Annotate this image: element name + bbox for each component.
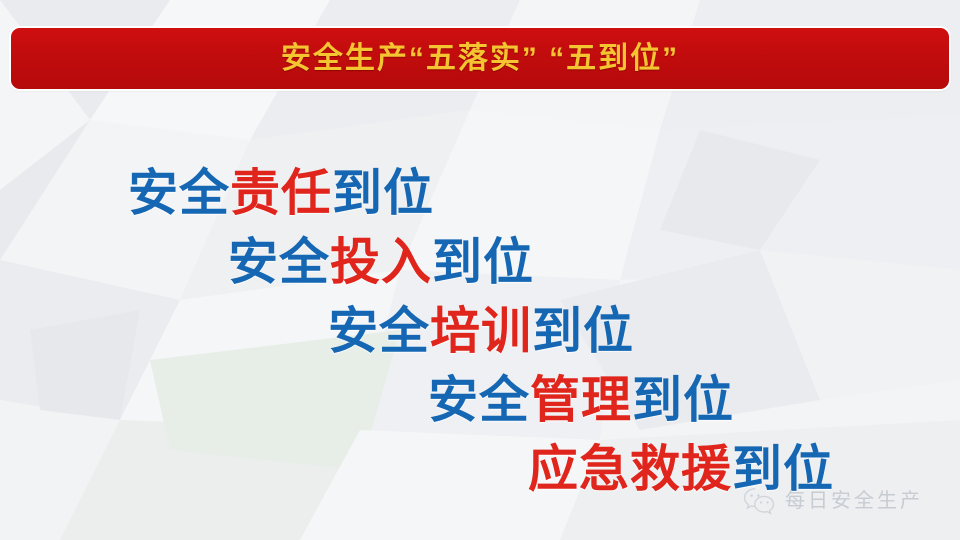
slogan-1-segment-3: 到位	[332, 168, 434, 218]
title-banner: 安全生产“五落实” “五到位”	[11, 28, 949, 89]
slogan-line-4: 安全 管理 到位	[0, 365, 960, 434]
wechat-account-name: 每日安全生产	[785, 491, 923, 511]
slogan-2-segment-2: 投入	[330, 237, 432, 287]
slogan-1-segment-2: 责任	[230, 168, 332, 218]
slogan-3-segment-3: 到位	[532, 306, 634, 356]
slogan-4-segment-1: 安全	[428, 375, 530, 425]
slogan-5-segment-1: 应急救援	[528, 444, 732, 494]
page-title: 安全生产“五落实” “五到位”	[281, 44, 679, 74]
wechat-icon	[742, 486, 776, 515]
slogan-4-segment-3: 到位	[632, 375, 734, 425]
slogan-4-segment-2: 管理	[530, 375, 632, 425]
slogan-2-segment-3: 到位	[432, 237, 534, 287]
slogan-line-2: 安全 投入 到位	[0, 227, 960, 296]
slogan-line-1: 安全 责任 到位	[0, 158, 960, 227]
wechat-watermark: 每日安全生产	[742, 486, 923, 515]
slogan-1-segment-1: 安全	[128, 168, 230, 218]
slogan-3-segment-1: 安全	[328, 306, 430, 356]
slide-canvas: 安全生产“五落实” “五到位” 安全 责任 到位 安全 投入 到位 安全 培训 …	[0, 0, 960, 540]
slogan-line-3: 安全 培训 到位	[0, 296, 960, 365]
slogan-2-segment-1: 安全	[228, 237, 330, 287]
slogan-3-segment-2: 培训	[430, 306, 532, 356]
slogan-list: 安全 责任 到位 安全 投入 到位 安全 培训 到位 安全 管理 到位 应急救援…	[0, 158, 960, 503]
